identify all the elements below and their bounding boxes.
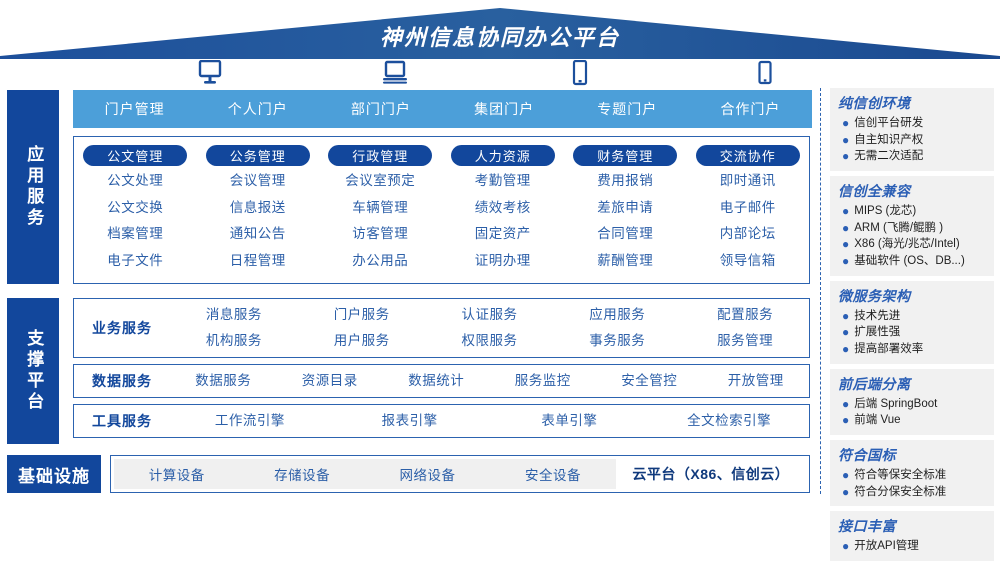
laptop-icon	[380, 60, 410, 88]
side-list-item-label: 技术先进	[854, 308, 900, 325]
desktop-monitor-icon	[195, 60, 225, 88]
support-item[interactable]: 认证服务	[426, 302, 554, 328]
app-item[interactable]: 访客管理	[352, 227, 408, 241]
feature-side-panel: 纯信创环境 ●信创平台研发 ●自主知识产权 ●无需二次适配 信创全兼容 ●MIP…	[830, 88, 994, 566]
app-column-title[interactable]: 行政管理	[328, 145, 432, 166]
side-list-item-label: ARM (飞腾/鲲鹏 )	[854, 220, 943, 237]
side-list-item: ●信创平台研发	[838, 115, 988, 132]
bullet-icon: ●	[842, 467, 849, 483]
side-section-title: 接口丰富	[838, 516, 988, 536]
support-item[interactable]: 应用服务	[553, 302, 681, 328]
support-row-business: 业务服务 消息服务 门户服务 认证服务 应用服务 配置服务 机构服务 用户服务 …	[73, 298, 810, 358]
support-item[interactable]: 安全管控	[596, 368, 703, 394]
support-item[interactable]: 报表引擎	[330, 408, 490, 434]
side-list-item: ●前端 Vue	[838, 412, 988, 429]
rail-application-services: 应用服务	[7, 90, 59, 284]
side-list-item: ●X86 (海光/兆芯/Intel)	[838, 236, 988, 253]
bullet-icon: ●	[842, 148, 849, 164]
bullet-icon: ●	[842, 341, 849, 357]
support-item[interactable]: 工作流引擎	[170, 408, 330, 434]
infrastructure-cloud-platform[interactable]: 云平台（X86、信创云）	[616, 459, 806, 489]
side-section-title: 符合国标	[838, 445, 988, 465]
side-list-item-label: 前端 Vue	[854, 412, 900, 429]
app-item[interactable]: 绩效考核	[475, 201, 531, 215]
portal-item[interactable]: 集团门户	[443, 99, 566, 119]
side-list-item: ●符合等保安全标准	[838, 467, 988, 484]
app-column-title[interactable]: 公务管理	[206, 145, 310, 166]
side-list-item: ●自主知识产权	[838, 132, 988, 149]
bullet-icon: ●	[842, 308, 849, 324]
side-list-item: ●提高部署效率	[838, 341, 988, 358]
side-section-title: 微服务架构	[838, 286, 988, 306]
infrastructure-item[interactable]: 存储设备	[239, 464, 364, 484]
app-item[interactable]: 证明办理	[475, 254, 531, 268]
infrastructure-item[interactable]: 网络设备	[365, 464, 490, 484]
support-row-data: 数据服务 数据服务 资源目录 数据统计 服务监控 安全管控 开放管理	[73, 364, 810, 398]
bullet-icon: ●	[842, 253, 849, 269]
app-item[interactable]: 电子文件	[107, 254, 163, 268]
rail-infrastructure: 基础设施	[7, 455, 101, 493]
support-item[interactable]: 服务管理	[681, 328, 809, 354]
tablet-icon	[565, 60, 595, 88]
bullet-icon: ●	[842, 484, 849, 500]
bullet-icon: ●	[842, 396, 849, 412]
portal-item[interactable]: 专题门户	[566, 99, 689, 119]
app-item[interactable]: 费用报销	[597, 174, 653, 188]
side-section: 前后端分离 ●后端 SpringBoot ●前端 Vue	[830, 369, 994, 435]
app-column: 行政管理 会议室预定 车辆管理 访客管理 办公用品	[319, 137, 442, 283]
support-item[interactable]: 配置服务	[681, 302, 809, 328]
portal-item[interactable]: 合作门户	[689, 99, 812, 119]
support-items-line: 机构服务 用户服务 权限服务 事务服务 服务管理	[170, 328, 809, 354]
app-item[interactable]: 会议室预定	[345, 174, 415, 188]
app-item[interactable]: 公文交换	[107, 201, 163, 215]
side-list-item-label: X86 (海光/兆芯/Intel)	[854, 236, 959, 253]
support-item[interactable]: 用户服务	[298, 328, 426, 354]
side-list-item: ●ARM (飞腾/鲲鹏 )	[838, 220, 988, 237]
side-list-item: ●基础软件 (OS、DB...)	[838, 253, 988, 270]
support-items-line: 工作流引擎 报表引擎 表单引擎 全文检索引擎	[170, 408, 809, 434]
support-row-items: 数据服务 资源目录 数据统计 服务监控 安全管控 开放管理	[170, 368, 809, 394]
bullet-icon: ●	[842, 220, 849, 236]
app-item[interactable]: 即时通讯	[720, 174, 776, 188]
side-list-item: ●扩展性强	[838, 324, 988, 341]
app-item[interactable]: 档案管理	[107, 227, 163, 241]
side-list-item: ●MIPS (龙芯)	[838, 203, 988, 220]
support-item[interactable]: 数据服务	[170, 368, 277, 394]
app-item[interactable]: 领导信箱	[720, 254, 776, 268]
rail-support-platform: 支撑平台	[7, 298, 59, 444]
infrastructure-box: 计算设备 存储设备 网络设备 安全设备 云平台（X86、信创云）	[110, 455, 810, 493]
portal-bar: 门户管理 个人门户 部门门户 集团门户 专题门户 合作门户	[73, 90, 812, 128]
app-item[interactable]: 会议管理	[230, 174, 286, 188]
bullet-icon: ●	[842, 538, 849, 554]
bullet-icon: ●	[842, 203, 849, 219]
side-list-item-label: 开放API管理	[854, 538, 919, 555]
app-item[interactable]: 内部论坛	[720, 227, 776, 241]
infrastructure-devices-group: 计算设备 存储设备 网络设备 安全设备	[114, 459, 616, 489]
side-section-title: 纯信创环境	[838, 93, 988, 113]
bullet-icon: ●	[842, 412, 849, 428]
app-item[interactable]: 薪酬管理	[597, 254, 653, 268]
side-list-item: ●后端 SpringBoot	[838, 396, 988, 413]
support-row-tool: 工具服务 工作流引擎 报表引擎 表单引擎 全文检索引擎	[73, 404, 810, 438]
app-column: 财务管理 费用报销 差旅申请 合同管理 薪酬管理	[564, 137, 687, 283]
app-column: 公文管理 公文处理 公文交换 档案管理 电子文件	[74, 137, 197, 283]
support-item[interactable]: 机构服务	[170, 328, 298, 354]
infrastructure-item[interactable]: 计算设备	[114, 464, 239, 484]
title-banner: 神州信息协同办公平台	[0, 0, 1000, 60]
side-list-item-label: 无需二次适配	[854, 148, 923, 165]
side-section: 符合国标 ●符合等保安全标准 ●符合分保安全标准	[830, 440, 994, 506]
support-item[interactable]: 资源目录	[277, 368, 384, 394]
side-section: 微服务架构 ●技术先进 ●扩展性强 ●提高部署效率	[830, 281, 994, 364]
side-list-item-label: 符合分保安全标准	[854, 484, 946, 501]
application-services-box: 公文管理 公文处理 公文交换 档案管理 电子文件 公务管理 会议管理 信息报送 …	[73, 136, 810, 284]
app-item[interactable]: 公文处理	[107, 174, 163, 188]
support-item[interactable]: 表单引擎	[490, 408, 650, 434]
support-items-line: 数据服务 资源目录 数据统计 服务监控 安全管控 开放管理	[170, 368, 809, 394]
device-icons-row	[73, 60, 813, 88]
side-list-item-label: 信创平台研发	[854, 115, 923, 132]
support-item[interactable]: 数据统计	[383, 368, 490, 394]
app-item[interactable]: 差旅申请	[597, 201, 653, 215]
side-list-item-label: 符合等保安全标准	[854, 467, 946, 484]
support-item[interactable]: 全文检索引擎	[649, 408, 809, 434]
side-list-item-label: MIPS (龙芯)	[854, 203, 916, 220]
side-list-item: ●技术先进	[838, 308, 988, 325]
support-item[interactable]: 服务监控	[490, 368, 597, 394]
app-item[interactable]: 信息报送	[230, 201, 286, 215]
bullet-icon: ●	[842, 115, 849, 131]
side-section: 纯信创环境 ●信创平台研发 ●自主知识产权 ●无需二次适配	[830, 88, 994, 171]
bullet-icon: ●	[842, 132, 849, 148]
support-row-items: 消息服务 门户服务 认证服务 应用服务 配置服务 机构服务 用户服务 权限服务 …	[170, 302, 809, 355]
smartphone-icon	[750, 60, 780, 88]
app-item[interactable]: 车辆管理	[352, 201, 408, 215]
support-item[interactable]: 权限服务	[426, 328, 554, 354]
side-list-item: ●开放API管理	[838, 538, 988, 555]
infrastructure-item[interactable]: 安全设备	[490, 464, 615, 484]
side-section: 信创全兼容 ●MIPS (龙芯) ●ARM (飞腾/鲲鹏 ) ●X86 (海光/…	[830, 176, 994, 276]
side-section: 接口丰富 ●开放API管理	[830, 511, 994, 561]
app-item[interactable]: 合同管理	[597, 227, 653, 241]
app-column-title[interactable]: 交流协作	[696, 145, 800, 166]
vertical-dashed-divider	[820, 88, 821, 494]
app-item[interactable]: 固定资产	[475, 227, 531, 241]
bullet-icon: ●	[842, 236, 849, 252]
app-item[interactable]: 通知公告	[230, 227, 286, 241]
support-item[interactable]: 事务服务	[553, 328, 681, 354]
support-item[interactable]: 门户服务	[298, 302, 426, 328]
portal-item[interactable]: 个人门户	[196, 99, 319, 119]
app-column: 人力资源 考勤管理 绩效考核 固定资产 证明办理	[442, 137, 565, 283]
side-list-item-label: 提高部署效率	[854, 341, 923, 358]
side-list-item-label: 基础软件 (OS、DB...)	[854, 253, 965, 270]
portal-item[interactable]: 部门门户	[319, 99, 442, 119]
side-list-item-label: 自主知识产权	[854, 132, 923, 149]
app-column: 交流协作 即时通讯 电子邮件 内部论坛 领导信箱	[687, 137, 810, 283]
app-column-title[interactable]: 财务管理	[573, 145, 677, 166]
support-item[interactable]: 开放管理	[703, 368, 810, 394]
app-item[interactable]: 办公用品	[352, 254, 408, 268]
side-list-item-label: 扩展性强	[854, 324, 900, 341]
side-list-item: ●符合分保安全标准	[838, 484, 988, 501]
app-column-title[interactable]: 人力资源	[451, 145, 555, 166]
portal-item[interactable]: 门户管理	[73, 99, 196, 119]
app-item[interactable]: 电子邮件	[720, 201, 776, 215]
side-list-item-label: 后端 SpringBoot	[854, 396, 937, 413]
bullet-icon: ●	[842, 324, 849, 340]
app-column-title[interactable]: 公文管理	[83, 145, 187, 166]
side-section-title: 信创全兼容	[838, 181, 988, 201]
page-title: 神州信息协同办公平台	[0, 20, 1000, 52]
support-row-label: 工具服务	[74, 411, 170, 431]
support-row-label: 业务服务	[74, 318, 170, 338]
app-item[interactable]: 考勤管理	[475, 174, 531, 188]
side-section-title: 前后端分离	[838, 374, 988, 394]
support-items-line: 消息服务 门户服务 认证服务 应用服务 配置服务	[170, 302, 809, 328]
support-item[interactable]: 消息服务	[170, 302, 298, 328]
side-list-item: ●无需二次适配	[838, 148, 988, 165]
app-item[interactable]: 日程管理	[230, 254, 286, 268]
diagram-root: 神州信息协同办公平台 应用服务 支撑平台 基础设施 门户管理 个人门户 部门门户…	[0, 0, 1000, 500]
app-column: 公务管理 会议管理 信息报送 通知公告 日程管理	[197, 137, 320, 283]
support-row-label: 数据服务	[74, 371, 170, 391]
support-row-items: 工作流引擎 报表引擎 表单引擎 全文检索引擎	[170, 408, 809, 434]
